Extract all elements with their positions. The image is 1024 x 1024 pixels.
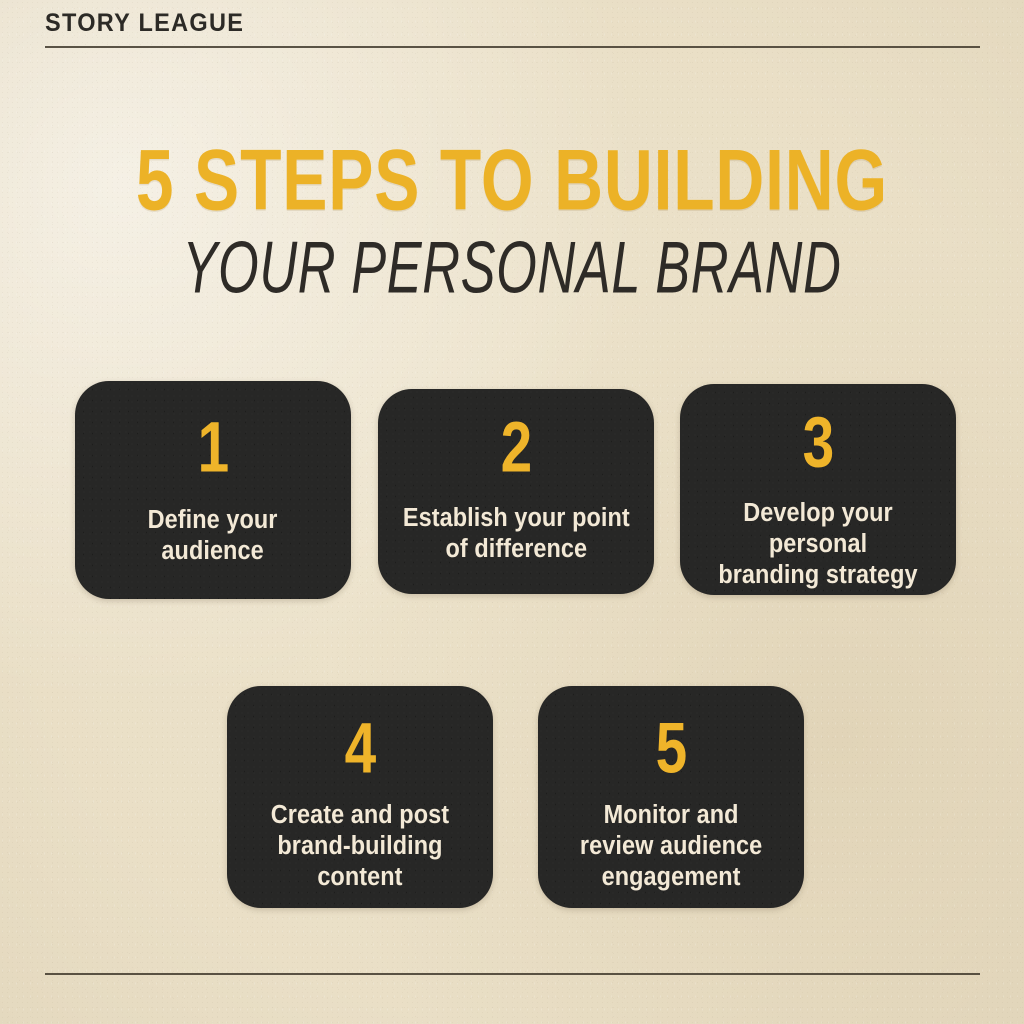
header-divider-rule <box>45 46 980 48</box>
brand-header: STORY LEAGUE <box>45 11 980 36</box>
brand-wordmark: STORY LEAGUE <box>45 11 924 36</box>
step-label-5: Monitor and review audience engagement <box>571 800 772 893</box>
poster-canvas: STORY LEAGUE 5 STEPS TO BUILDING YOUR PE… <box>0 0 1024 1024</box>
title-line-primary: 5 STEPS TO BUILDING <box>61 138 962 224</box>
step-label-3: Develop your personal branding strategy <box>691 498 945 591</box>
step-number-3: 3 <box>802 406 834 477</box>
title-block: 5 STEPS TO BUILDING YOUR PERSONAL BRAND <box>0 138 1024 295</box>
step-number-4: 4 <box>344 712 376 783</box>
step-card-3: 3 Develop your personal branding strateg… <box>680 384 956 595</box>
step-number-1: 1 <box>197 411 229 482</box>
step-label-4: Create and post brand-building content <box>262 800 459 893</box>
title-line-secondary: YOUR PERSONAL BRAND <box>87 232 937 305</box>
step-card-2: 2 Establish your point of difference <box>378 389 654 594</box>
step-number-2: 2 <box>500 411 532 482</box>
footer-divider-rule <box>45 973 980 975</box>
step-label-1: Define your audience <box>139 505 287 567</box>
step-label-2: Establish your point of difference <box>393 503 638 565</box>
step-card-4: 4 Create and post brand-building content <box>227 686 493 908</box>
step-number-5: 5 <box>655 712 687 783</box>
step-card-1: 1 Define your audience <box>75 381 351 599</box>
step-card-5: 5 Monitor and review audience engagement <box>538 686 804 908</box>
